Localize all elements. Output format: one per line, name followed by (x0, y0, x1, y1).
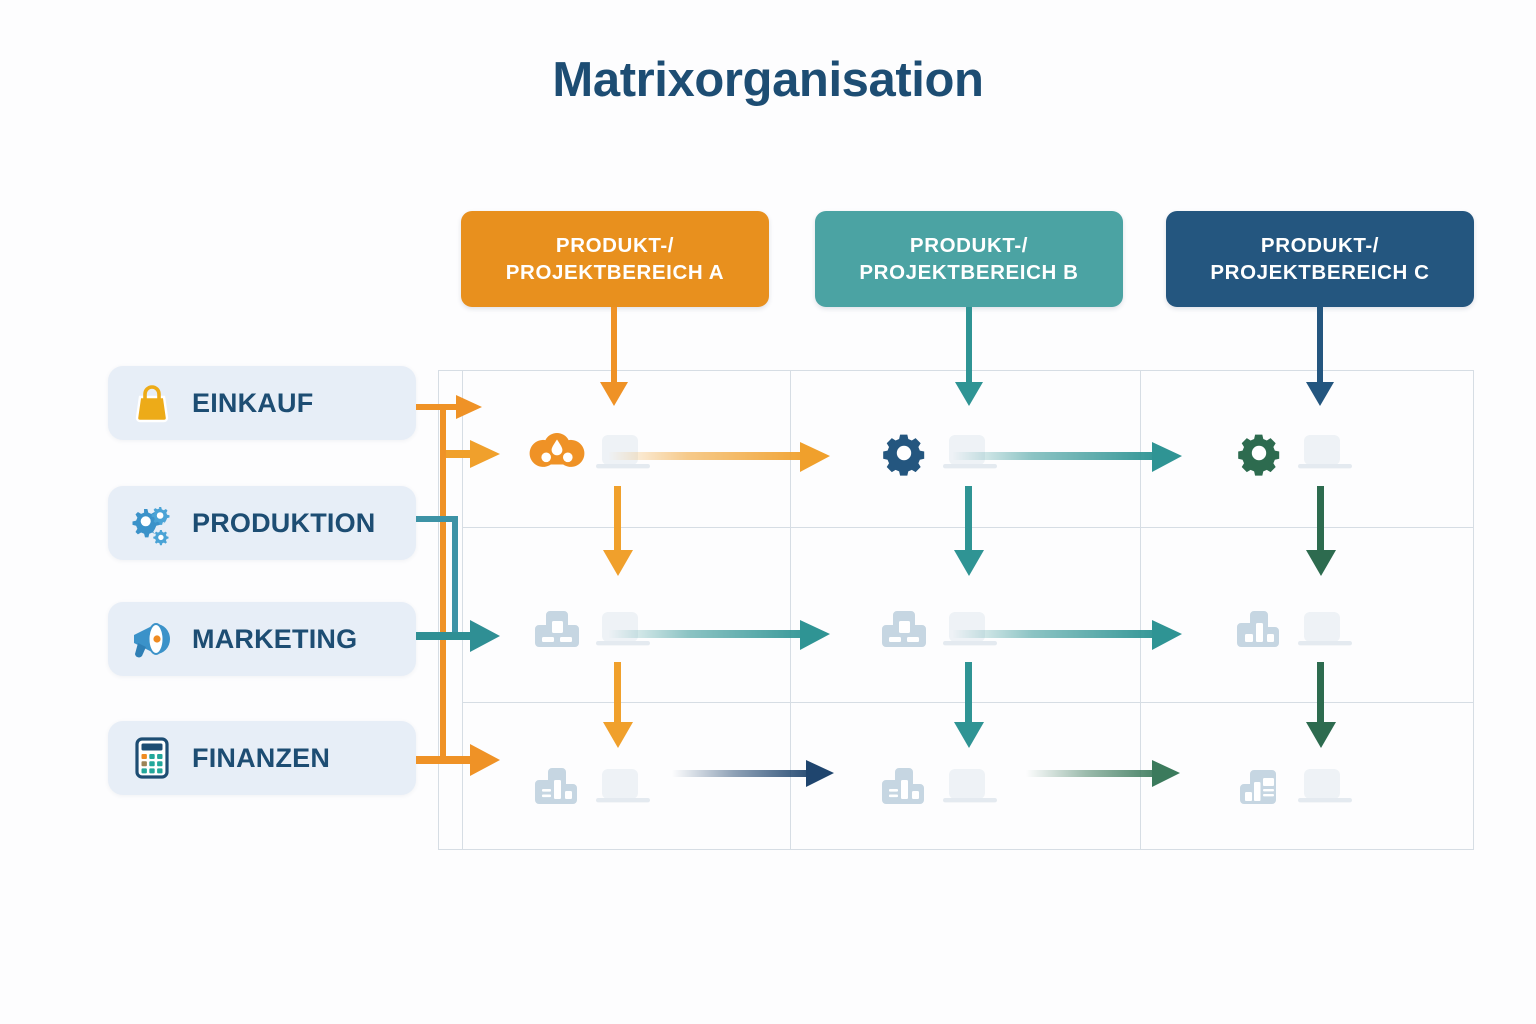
cell-marketing-a[interactable] (528, 595, 728, 665)
bar-building-icon (875, 758, 933, 816)
page-title: Matrixorganisation (0, 52, 1536, 108)
megaphone-icon (126, 613, 178, 665)
bar-building-icon (528, 758, 586, 816)
row-label-marketing[interactable]: MARKETING (108, 602, 416, 676)
column-header-b-line2: PROJEKTBEREICH B (859, 259, 1078, 286)
cluster-node-icon (528, 424, 586, 482)
row-label-finanzen-text: FINANZEN (192, 743, 330, 774)
ghost-card-icon (935, 604, 1005, 656)
ghost-card-icon (935, 761, 1005, 813)
grid-column-divider-bc (1140, 370, 1141, 850)
row-label-einkauf-text: EINKAUF (192, 388, 313, 419)
cell-finanzen-a[interactable] (528, 752, 728, 822)
column-header-a[interactable]: PRODUKT-/ PROJEKTBEREICH A (461, 211, 769, 307)
ghost-card-icon (1290, 761, 1360, 813)
cell-marketing-b[interactable] (875, 595, 1075, 665)
column-header-c-line1: PRODUKT-/ (1261, 232, 1379, 259)
grid-column-divider-ab (790, 370, 791, 850)
diagram-canvas: Matrixorganisation PRODUKT-/ PROJEKTBERE… (0, 0, 1536, 1024)
row-label-produktion-text: PRODUKTION (192, 508, 376, 539)
cell-produktion-c[interactable] (1230, 418, 1430, 488)
grid-row-divider-1 (462, 527, 1474, 528)
column-header-b[interactable]: PRODUKT-/ PROJEKTBEREICH B (815, 211, 1123, 307)
ghost-card-icon (1290, 427, 1360, 479)
ghost-card-icon (1290, 604, 1360, 656)
calculator-icon (126, 732, 178, 784)
row-label-finanzen[interactable]: FINANZEN (108, 721, 416, 795)
cell-produktion-b[interactable] (875, 418, 1075, 488)
gear-icon (875, 424, 933, 482)
ghost-card-icon (588, 427, 658, 479)
row-label-produktion[interactable]: PRODUKTION (108, 486, 416, 560)
cell-marketing-c[interactable] (1230, 595, 1430, 665)
ghost-card-icon (935, 427, 1005, 479)
org-chart-icon (875, 601, 933, 659)
ghost-card-icon (588, 604, 658, 656)
org-chart-icon (528, 601, 586, 659)
cell-finanzen-c[interactable] (1230, 752, 1430, 822)
column-header-a-line1: PRODUKT-/ (556, 232, 674, 259)
gears-icon (126, 497, 178, 549)
row-label-einkauf[interactable]: EINKAUF (108, 366, 416, 440)
bar-building-icon (1230, 758, 1288, 816)
bar-building-icon (1230, 601, 1288, 659)
column-header-c[interactable]: PRODUKT-/ PROJEKTBEREICH C (1166, 211, 1474, 307)
grid-row-divider-2 (462, 702, 1474, 703)
cell-finanzen-b[interactable] (875, 752, 1075, 822)
gear-icon (1230, 424, 1288, 482)
cell-produktion-a[interactable] (528, 418, 728, 488)
row-label-marketing-text: MARKETING (192, 624, 357, 655)
column-header-a-line2: PROJEKTBEREICH A (506, 259, 724, 286)
column-header-b-line1: PRODUKT-/ (910, 232, 1028, 259)
column-header-c-line2: PROJEKTBEREICH C (1210, 259, 1429, 286)
ghost-card-icon (588, 761, 658, 813)
shopping-bag-icon (126, 377, 178, 429)
